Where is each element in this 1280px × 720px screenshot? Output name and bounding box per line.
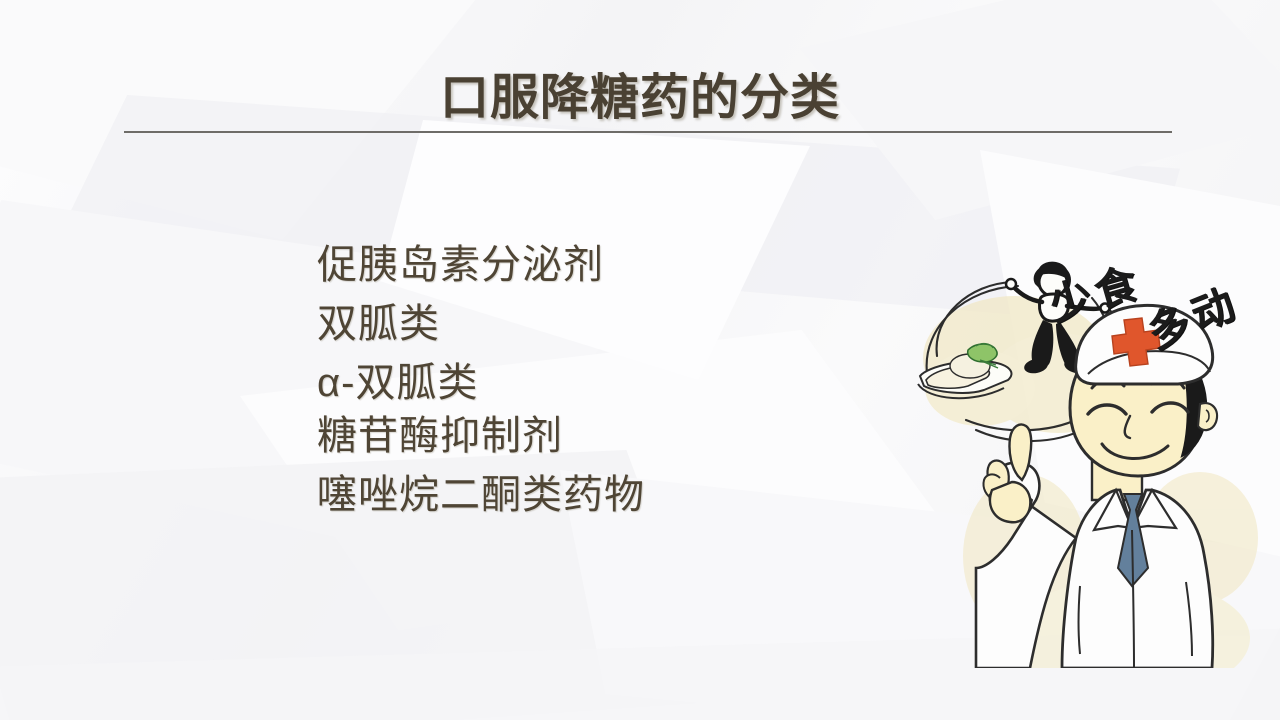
- list-item: 双胍类: [317, 295, 937, 354]
- slide-title: 口服降糖药的分类: [0, 58, 1280, 129]
- list-item: α-双胍类: [317, 354, 937, 413]
- title-divider-rule: [124, 131, 1172, 133]
- presentation-slide: 口服降糖药的分类 促胰岛素分泌剂 双胍类 α-双胍类 糖苷酶抑制剂 噻唑烷二酮类…: [0, 0, 1280, 720]
- list-item: 糖苷酶抑制剂: [317, 407, 937, 466]
- list-item: 促胰岛素分泌剂: [317, 236, 937, 295]
- drug-category-list: 促胰岛素分泌剂 双胍类 α-双胍类 糖苷酶抑制剂 噻唑烷二酮类药物: [317, 236, 937, 525]
- list-item: 噻唑烷二酮类药物: [317, 466, 937, 525]
